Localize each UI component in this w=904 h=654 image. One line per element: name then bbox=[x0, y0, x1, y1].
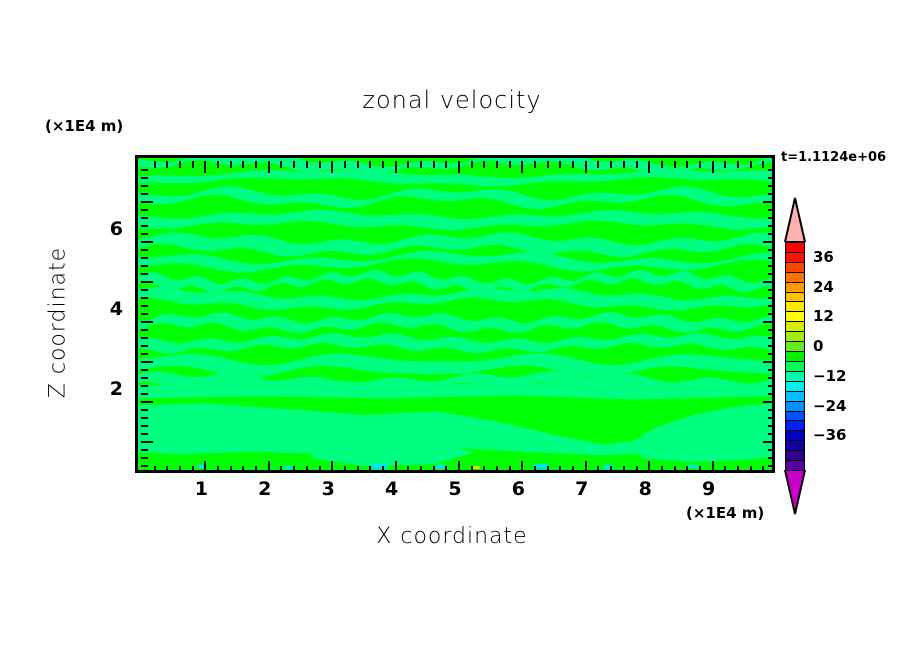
tick-mark bbox=[141, 401, 153, 403]
tick-mark bbox=[768, 273, 775, 275]
tick-mark bbox=[433, 161, 435, 168]
colorbar-tick-label: 24 bbox=[813, 278, 834, 296]
tick-mark bbox=[724, 161, 726, 168]
x-tick-label: 6 bbox=[503, 478, 533, 500]
x-tick-label: 1 bbox=[186, 478, 216, 500]
x-tick-label: 5 bbox=[440, 478, 470, 500]
tick-mark bbox=[204, 461, 206, 473]
tick-mark bbox=[768, 369, 775, 371]
colorbar-under-arrow bbox=[783, 470, 807, 516]
tick-mark bbox=[344, 466, 346, 473]
tick-mark bbox=[712, 161, 714, 173]
contour-speck bbox=[689, 465, 698, 468]
tick-mark bbox=[763, 281, 775, 283]
tick-mark bbox=[192, 466, 194, 473]
tick-mark bbox=[585, 161, 587, 173]
tick-mark bbox=[768, 329, 775, 331]
tick-mark bbox=[623, 466, 625, 473]
tick-mark bbox=[763, 201, 775, 203]
tick-mark bbox=[141, 185, 148, 187]
tick-mark bbox=[255, 161, 257, 168]
tick-mark bbox=[141, 465, 148, 467]
tick-mark bbox=[141, 249, 148, 251]
tick-mark bbox=[610, 161, 612, 168]
tick-mark bbox=[509, 466, 511, 473]
tick-mark bbox=[141, 417, 148, 419]
tick-mark bbox=[768, 425, 775, 427]
tick-mark bbox=[768, 449, 775, 451]
tick-mark bbox=[357, 161, 359, 168]
tick-mark bbox=[166, 466, 168, 473]
contour-speck bbox=[197, 465, 204, 468]
tick-mark bbox=[768, 393, 775, 395]
tick-mark bbox=[445, 161, 447, 168]
z-axis-title: Z coordinate bbox=[46, 243, 71, 403]
tick-mark bbox=[344, 161, 346, 168]
chart-title: zonal velocity bbox=[0, 86, 904, 114]
tick-mark bbox=[141, 193, 148, 195]
colorbar-tick-label: 0 bbox=[813, 337, 823, 355]
tick-mark bbox=[768, 169, 775, 171]
tick-mark bbox=[242, 161, 244, 168]
tick-mark bbox=[597, 161, 599, 168]
colorbar-tick-label: −36 bbox=[813, 426, 846, 444]
tick-mark bbox=[141, 273, 148, 275]
colorbar-tick-label: −24 bbox=[813, 397, 846, 415]
tick-mark bbox=[763, 401, 775, 403]
tick-mark bbox=[154, 466, 156, 473]
tick-mark bbox=[141, 449, 148, 451]
tick-mark bbox=[661, 161, 663, 168]
x-tick-label: 8 bbox=[630, 478, 660, 500]
figure-canvas: zonal velocity (×1E4 m) (×1E4 m) t=1.112… bbox=[0, 0, 904, 654]
tick-mark bbox=[768, 457, 775, 459]
tick-mark bbox=[280, 161, 282, 168]
tick-mark bbox=[750, 161, 752, 168]
tick-mark bbox=[768, 233, 775, 235]
tick-mark bbox=[293, 161, 295, 168]
tick-mark bbox=[407, 466, 409, 473]
tick-mark bbox=[686, 466, 688, 473]
tick-mark bbox=[141, 433, 148, 435]
tick-mark bbox=[166, 161, 168, 168]
tick-mark bbox=[141, 337, 148, 339]
tick-mark bbox=[141, 457, 148, 459]
tick-mark bbox=[306, 161, 308, 168]
tick-mark bbox=[763, 361, 775, 363]
colorbar-over-arrow bbox=[783, 196, 807, 242]
tick-mark bbox=[509, 161, 511, 168]
tick-mark bbox=[483, 466, 485, 473]
tick-mark bbox=[230, 161, 232, 168]
tick-mark bbox=[559, 466, 561, 473]
tick-mark bbox=[648, 461, 650, 473]
tick-mark bbox=[230, 466, 232, 473]
tick-mark bbox=[280, 466, 282, 473]
tick-mark bbox=[768, 289, 775, 291]
tick-mark bbox=[521, 461, 523, 473]
tick-mark bbox=[141, 385, 148, 387]
tick-mark bbox=[572, 466, 574, 473]
tick-mark bbox=[395, 161, 397, 173]
tick-mark bbox=[559, 161, 561, 168]
tick-mark bbox=[217, 161, 219, 168]
tick-mark bbox=[382, 466, 384, 473]
tick-mark bbox=[768, 225, 775, 227]
tick-mark bbox=[768, 409, 775, 411]
tick-mark bbox=[750, 466, 752, 473]
tick-mark bbox=[242, 466, 244, 473]
tick-mark bbox=[648, 161, 650, 173]
tick-mark bbox=[293, 466, 295, 473]
tick-mark bbox=[268, 461, 270, 473]
tick-mark bbox=[686, 161, 688, 168]
tick-mark bbox=[141, 425, 148, 427]
tick-mark bbox=[737, 466, 739, 473]
tick-mark bbox=[268, 161, 270, 173]
contour-speck bbox=[372, 464, 388, 469]
x-tick-label: 4 bbox=[377, 478, 407, 500]
tick-mark bbox=[674, 161, 676, 168]
tick-mark bbox=[369, 161, 371, 168]
tick-mark bbox=[699, 161, 701, 168]
tick-mark bbox=[768, 193, 775, 195]
tick-mark bbox=[768, 185, 775, 187]
tick-mark bbox=[768, 345, 775, 347]
tick-mark bbox=[192, 161, 194, 168]
tick-mark bbox=[141, 441, 153, 443]
tick-mark bbox=[141, 297, 148, 299]
tick-mark bbox=[141, 393, 148, 395]
x-axis-unit-label: (×1E4 m) bbox=[686, 504, 764, 522]
tick-mark bbox=[496, 161, 498, 168]
tick-mark bbox=[331, 161, 333, 173]
tick-mark bbox=[141, 177, 148, 179]
tick-mark bbox=[763, 241, 775, 243]
tick-mark bbox=[768, 257, 775, 259]
tick-mark bbox=[141, 361, 153, 363]
tick-mark bbox=[547, 161, 549, 168]
tick-mark bbox=[674, 466, 676, 473]
tick-mark bbox=[768, 433, 775, 435]
tick-mark bbox=[661, 466, 663, 473]
tick-mark bbox=[768, 265, 775, 267]
y-tick-label: 6 bbox=[93, 218, 123, 240]
tick-mark bbox=[768, 385, 775, 387]
tick-mark bbox=[636, 161, 638, 168]
tick-mark bbox=[763, 441, 775, 443]
tick-mark bbox=[521, 161, 523, 173]
tick-mark bbox=[154, 161, 156, 168]
tick-mark bbox=[306, 466, 308, 473]
tick-mark bbox=[534, 161, 536, 168]
tick-mark bbox=[763, 321, 775, 323]
contour-speck bbox=[285, 466, 293, 469]
tick-mark bbox=[141, 169, 148, 171]
tick-mark bbox=[141, 353, 148, 355]
tick-mark bbox=[331, 461, 333, 473]
x-tick-label: 7 bbox=[567, 478, 597, 500]
colorbar-tick-label: 12 bbox=[813, 307, 834, 325]
tick-mark bbox=[768, 305, 775, 307]
tick-mark bbox=[141, 209, 148, 211]
tick-mark bbox=[395, 461, 397, 473]
tick-mark bbox=[141, 313, 148, 315]
tick-mark bbox=[762, 466, 764, 473]
tick-mark bbox=[369, 466, 371, 473]
tick-mark bbox=[407, 161, 409, 168]
y-axis-unit-label: (×1E4 m) bbox=[45, 117, 123, 135]
tick-mark bbox=[547, 466, 549, 473]
tick-mark bbox=[458, 461, 460, 473]
tick-mark bbox=[141, 305, 148, 307]
tick-mark bbox=[768, 209, 775, 211]
tick-mark bbox=[768, 337, 775, 339]
tick-mark bbox=[737, 161, 739, 168]
tick-mark bbox=[319, 161, 321, 168]
tick-mark bbox=[141, 225, 148, 227]
colorbar-tick-label: 36 bbox=[813, 248, 834, 266]
tick-mark bbox=[141, 265, 148, 267]
tick-mark bbox=[141, 329, 148, 331]
tick-mark bbox=[141, 281, 153, 283]
tick-mark bbox=[445, 466, 447, 473]
tick-mark bbox=[623, 161, 625, 168]
tick-mark bbox=[382, 161, 384, 168]
tick-mark bbox=[217, 466, 219, 473]
tick-mark bbox=[636, 466, 638, 473]
tick-mark bbox=[768, 417, 775, 419]
tick-mark bbox=[483, 161, 485, 168]
tick-mark bbox=[496, 466, 498, 473]
tick-mark bbox=[768, 353, 775, 355]
tick-mark bbox=[141, 257, 148, 259]
y-tick-label: 2 bbox=[93, 378, 123, 400]
y-tick-label: 4 bbox=[93, 298, 123, 320]
colorbar-tick-label: −12 bbox=[813, 367, 846, 385]
tick-mark bbox=[572, 161, 574, 168]
x-tick-label: 9 bbox=[694, 478, 724, 500]
colorbar[interactable] bbox=[783, 196, 807, 516]
tick-mark bbox=[204, 161, 206, 173]
contour-field bbox=[138, 158, 772, 470]
tick-mark bbox=[585, 461, 587, 473]
tick-mark bbox=[762, 161, 764, 168]
tick-mark bbox=[712, 461, 714, 473]
tick-mark bbox=[141, 409, 148, 411]
tick-mark bbox=[768, 377, 775, 379]
tick-mark bbox=[141, 377, 148, 379]
tick-mark bbox=[141, 345, 148, 347]
tick-mark bbox=[471, 161, 473, 168]
tick-mark bbox=[255, 466, 257, 473]
tick-mark bbox=[768, 297, 775, 299]
tick-mark bbox=[724, 466, 726, 473]
tick-mark bbox=[141, 289, 148, 291]
tick-mark bbox=[179, 161, 181, 168]
tick-mark bbox=[141, 321, 153, 323]
tick-mark bbox=[768, 249, 775, 251]
tick-mark bbox=[141, 233, 148, 235]
tick-mark bbox=[768, 313, 775, 315]
tick-mark bbox=[433, 466, 435, 473]
tick-mark bbox=[471, 466, 473, 473]
tick-mark bbox=[699, 466, 701, 473]
tick-mark bbox=[357, 466, 359, 473]
tick-mark bbox=[597, 466, 599, 473]
tick-mark bbox=[768, 217, 775, 219]
tick-mark bbox=[420, 466, 422, 473]
tick-mark bbox=[458, 161, 460, 173]
x-tick-label: 3 bbox=[313, 478, 343, 500]
tick-mark bbox=[610, 466, 612, 473]
tick-mark bbox=[420, 161, 422, 168]
tick-mark bbox=[179, 466, 181, 473]
tick-mark bbox=[141, 217, 148, 219]
x-axis-title: X coordinate bbox=[0, 524, 904, 549]
contour-plot-area bbox=[135, 155, 775, 473]
tick-mark bbox=[768, 177, 775, 179]
time-annotation: t=1.1124e+06 bbox=[781, 150, 886, 165]
tick-mark bbox=[141, 369, 148, 371]
tick-mark bbox=[141, 201, 153, 203]
tick-mark bbox=[141, 241, 153, 243]
tick-mark bbox=[768, 465, 775, 467]
x-tick-label: 2 bbox=[250, 478, 280, 500]
tick-mark bbox=[319, 466, 321, 473]
tick-mark bbox=[534, 466, 536, 473]
